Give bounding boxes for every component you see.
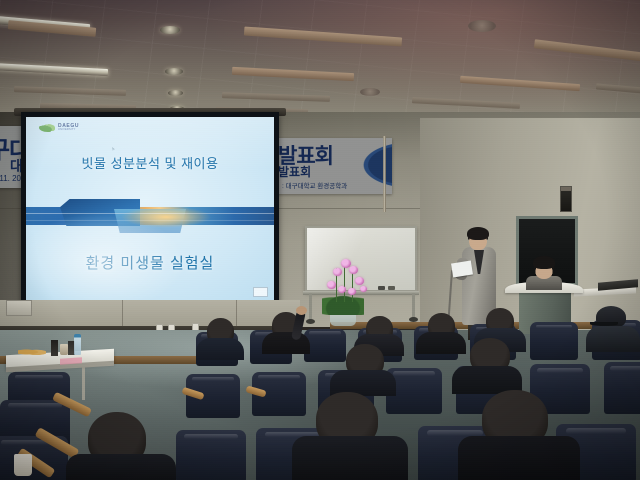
whiteboard-leg: [309, 293, 312, 321]
seat-highlight: [258, 375, 299, 379]
seat-highlight: [610, 366, 640, 371]
band-hairline: [26, 213, 274, 214]
slide-corner-badge: [253, 287, 268, 297]
audience-shoulders: [416, 332, 466, 354]
seat-highlight: [184, 434, 237, 439]
projected-slide: DAEGU UNIVERSITY 빗물 성분분석 및 재이용 환경 미생물 실험…: [26, 117, 274, 303]
seat-highlight: [537, 368, 583, 373]
table-leg: [82, 366, 85, 400]
slide-logo-subtext: UNIVERSITY: [58, 129, 79, 132]
orchid-bloom: [360, 286, 367, 292]
banner-right-line2: 발표회: [278, 163, 311, 180]
seat-highlight: [427, 430, 483, 436]
band-light-flare: [118, 201, 238, 233]
orchid-bloom: [355, 277, 364, 285]
wall-utility-box: [6, 300, 32, 316]
seat-highlight: [15, 375, 62, 379]
seat-back: [530, 322, 578, 360]
ceiling-air-vent: [468, 20, 496, 32]
whiteboard-leg: [412, 293, 415, 319]
banner-right-line3: : 대구대학교 환경공학과: [282, 180, 347, 190]
seat-back: [304, 329, 346, 362]
seat-highlight: [566, 428, 627, 434]
university-emblem-icon: [39, 124, 55, 132]
auditorium-seat: [604, 362, 640, 414]
paper-cup: [14, 454, 32, 476]
seat-highlight: [309, 331, 341, 334]
seat-highlight: [8, 403, 61, 408]
podium-presenter-hair: [533, 256, 555, 269]
slide-logo: DAEGU UNIVERSITY: [39, 124, 79, 132]
audience-shoulders: [586, 326, 640, 352]
snack-food: [18, 348, 46, 356]
ceiling-downlight: [165, 68, 183, 75]
audience-hand: [296, 306, 307, 315]
seat-back: [604, 362, 640, 414]
ceiling-downlight: [160, 26, 180, 34]
orchid-stem: [352, 270, 353, 302]
stage-panel-seam: [122, 300, 123, 327]
auditorium-seat: [530, 322, 578, 360]
auditorium-seat: [176, 430, 246, 480]
seat-highlight: [192, 377, 233, 381]
whiteboard-marker: [388, 286, 395, 290]
banner-support-pole: [383, 136, 386, 212]
water-bottle: [74, 334, 81, 355]
event-banner-right: 발표회 발표회 : 대구대학교 환경공학과: [276, 138, 392, 194]
stage-panel-seam: [236, 300, 237, 327]
ceiling-air-vent: [360, 88, 380, 96]
orchid-stem: [344, 262, 345, 302]
audience-shoulders: [196, 338, 244, 360]
orchid-bloom: [349, 266, 358, 274]
seat-highlight: [393, 371, 436, 376]
audience-shoulders: [262, 332, 310, 354]
seat-highlight: [536, 325, 573, 329]
orchid-bloom: [348, 288, 356, 295]
plant-foliage: [322, 293, 364, 315]
seat-back: [176, 430, 246, 480]
slide-graphic-band: [26, 199, 274, 235]
audience-shoulders: [458, 436, 580, 480]
audience-shoulders: [292, 436, 408, 480]
ceiling: [0, 0, 640, 118]
wall-speaker: [560, 186, 572, 212]
audience-shoulders: [66, 454, 176, 480]
whiteboard-caster: [306, 319, 315, 324]
speaker-grille: [561, 187, 571, 191]
beige-cup: [60, 344, 68, 355]
orchid-bloom: [333, 268, 342, 276]
slide-subtitle: 환경 미생물 실험실: [26, 252, 274, 273]
orchid-bloom: [338, 286, 346, 293]
auditorium-seat: [304, 329, 346, 362]
mouse-cursor-icon: [112, 147, 115, 151]
dark-cup: [51, 340, 58, 356]
orchid-bloom: [327, 281, 336, 289]
band-hairline: [26, 220, 274, 221]
slide-title: 빗물 성분분석 및 재이용: [26, 153, 274, 172]
ceiling-downlight: [168, 90, 183, 96]
presenter-hair: [467, 227, 489, 240]
whiteboard-marker: [378, 286, 385, 290]
slide-logo-text: DAEGU UNIVERSITY: [58, 124, 79, 132]
auditorium-photo: 구대 대구 09. 11. 20(금) 발표회 발표회 : 대구대학교 환경공학…: [0, 0, 640, 480]
projection-screen: DAEGU UNIVERSITY 빗물 성분분석 및 재이용 환경 미생물 실험…: [21, 112, 279, 309]
